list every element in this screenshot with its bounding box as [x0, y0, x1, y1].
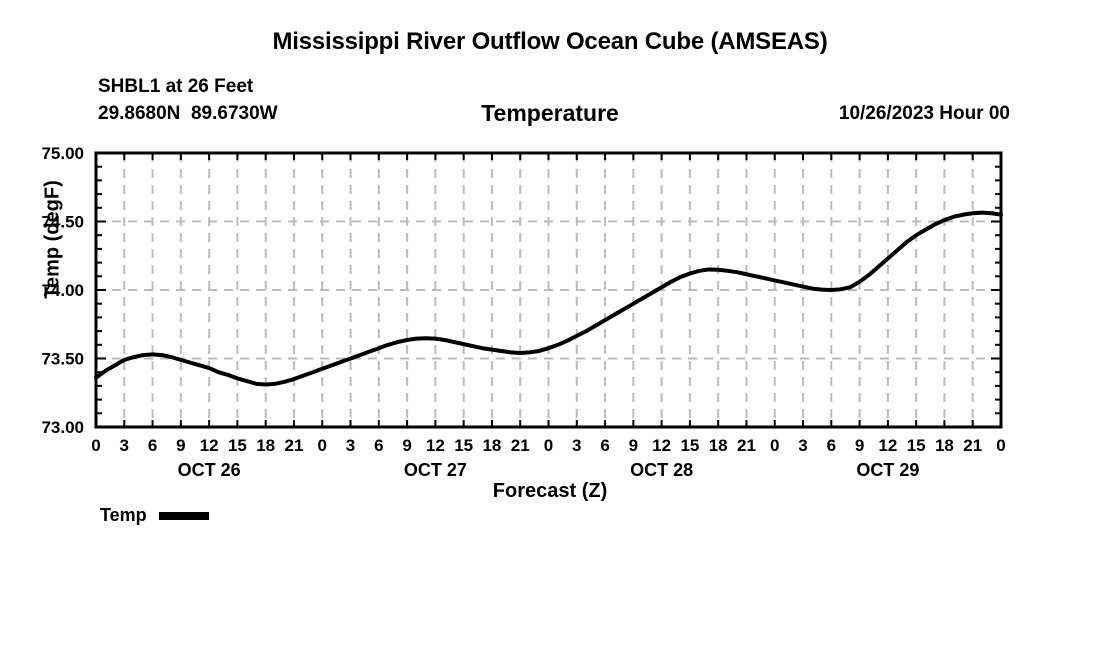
x-tick-label: 9: [402, 436, 411, 455]
y-tick-label: 74.00: [41, 281, 84, 300]
x-tick-label: 3: [346, 436, 355, 455]
chart-legend: Temp: [100, 505, 209, 526]
x-tick-label: 3: [798, 436, 807, 455]
x-tick-label: 0: [544, 436, 553, 455]
x-tick-label: 12: [200, 436, 219, 455]
x-axis-day-label: OCT 29: [856, 460, 919, 480]
x-tick-label: 12: [652, 436, 671, 455]
x-axis-day-label: OCT 26: [178, 460, 241, 480]
temperature-line-chart: 73.0073.5074.0074.5075.00036912151821036…: [0, 0, 1100, 650]
x-tick-label: 6: [827, 436, 836, 455]
y-tick-label: 73.00: [41, 418, 84, 437]
x-tick-label: 12: [878, 436, 897, 455]
x-tick-label: 6: [148, 436, 157, 455]
x-tick-label: 9: [176, 436, 185, 455]
legend-item-label: Temp: [100, 505, 147, 526]
y-tick-label: 75.00: [41, 144, 84, 163]
x-tick-label: 18: [935, 436, 954, 455]
x-tick-label: 18: [256, 436, 275, 455]
x-tick-label: 18: [482, 436, 501, 455]
axis-tick-labels: 73.0073.5074.0074.5075.00036912151821036…: [41, 144, 1005, 480]
x-tick-label: 3: [572, 436, 581, 455]
x-axis-day-label: OCT 28: [630, 460, 693, 480]
x-tick-label: 15: [228, 436, 247, 455]
chart-page: Mississippi River Outflow Ocean Cube (AM…: [0, 0, 1100, 650]
x-tick-label: 6: [374, 436, 383, 455]
x-tick-label: 9: [855, 436, 864, 455]
x-tick-label: 3: [120, 436, 129, 455]
x-tick-label: 15: [907, 436, 926, 455]
x-tick-label: 18: [709, 436, 728, 455]
x-tick-label: 21: [511, 436, 530, 455]
x-tick-label: 6: [600, 436, 609, 455]
x-tick-label: 9: [629, 436, 638, 455]
x-tick-label: 21: [737, 436, 756, 455]
x-tick-label: 21: [285, 436, 304, 455]
x-axis-day-label: OCT 27: [404, 460, 467, 480]
x-tick-label: 0: [770, 436, 779, 455]
x-tick-label: 21: [963, 436, 982, 455]
legend-color-swatch: [159, 512, 209, 520]
x-tick-label: 0: [996, 436, 1005, 455]
x-tick-label: 15: [680, 436, 699, 455]
x-tick-label: 15: [454, 436, 473, 455]
x-tick-label: 0: [318, 436, 327, 455]
x-tick-label: 12: [426, 436, 445, 455]
y-tick-label: 73.50: [41, 350, 84, 369]
x-tick-label: 0: [91, 436, 100, 455]
y-tick-label: 74.50: [41, 213, 84, 232]
grid-lines: [96, 153, 1001, 427]
